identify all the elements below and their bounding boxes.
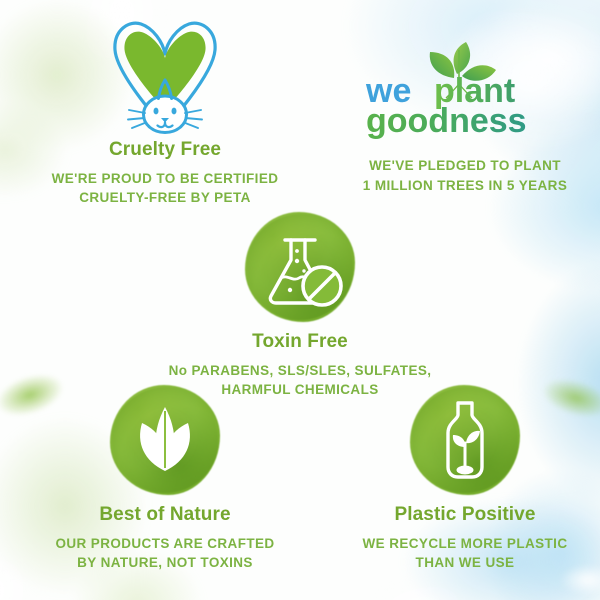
infographic-canvas: Cruelty Free WE'RE PROUD TO BE CERTIFIED… [0,0,600,600]
peta-logo-wrap [30,14,300,140]
plastic-positive-subtitle: WE RECYCLE MORE PLASTIC THAN WE USE [330,534,600,573]
bunny-eye-right [172,108,177,115]
feature-block-plastic-positive: Plastic Positive WE RECYCLE MORE PLASTIC… [330,385,600,573]
best-of-nature-badge [110,385,220,495]
we-plant-goodness-subtitle-line1: WE'VE PLEDGED TO PLANT [369,158,561,173]
feature-block-toxin-free: Toxin Free No PARABENS, SLS/SLES, SULFAT… [165,212,435,400]
soil-mound [457,466,474,475]
we-plant-goodness-logo-wrap: we plant goodness [330,40,600,140]
three-leaves-icon [110,385,220,495]
plastic-positive-badge [410,385,520,495]
peta-cruelty-free-bunny-logo [101,14,229,140]
feature-block-best-of-nature: Best of Nature OUR PRODUCTS ARE CRAFTED … [30,385,300,573]
cruelty-free-title: Cruelty Free [30,140,300,161]
bottle-sprout-icon [410,385,520,495]
cruelty-free-subtitle: WE'RE PROUD TO BE CERTIFIED CRUELTY-FREE… [30,169,300,208]
we-plant-goodness-subtitle: WE'VE PLEDGED TO PLANT 1 MILLION TREES I… [330,156,600,195]
best-of-nature-title: Best of Nature [30,505,300,526]
feature-block-cruelty-free: Cruelty Free WE'RE PROUD TO BE CERTIFIED… [30,14,300,208]
feature-block-we-plant-goodness: we plant goodness WE'VE PLEDGED TO PLANT… [330,40,600,195]
bunny-eye-left [154,108,159,115]
logo-word-goodness: goodness [366,102,527,140]
bunny-head [144,96,187,133]
toxin-free-subtitle-line1: No PARABENS, SLS/SLES, SULFATES, [169,363,432,378]
plastic-positive-subtitle-line2: THAN WE USE [416,555,515,570]
plastic-positive-subtitle-line1: WE RECYCLE MORE PLASTIC [363,536,568,551]
flask-no-toxins-icon [245,212,355,322]
we-plant-goodness-sprout-logo: we plant goodness [350,40,580,140]
toxin-free-title: Toxin Free [165,332,435,353]
toxin-free-badge [245,212,355,322]
cruelty-free-subtitle-line2: CRUELTY-FREE BY PETA [79,190,251,205]
cruelty-free-subtitle-line1: WE'RE PROUD TO BE CERTIFIED [52,171,279,186]
best-of-nature-subtitle: OUR PRODUCTS ARE CRAFTED BY NATURE, NOT … [30,534,300,573]
plastic-positive-title: Plastic Positive [330,505,600,526]
we-plant-goodness-subtitle-line2: 1 MILLION TREES IN 5 YEARS [363,178,567,193]
best-of-nature-subtitle-line2: BY NATURE, NOT TOXINS [77,555,253,570]
best-of-nature-subtitle-line1: OUR PRODUCTS ARE CRAFTED [55,536,274,551]
